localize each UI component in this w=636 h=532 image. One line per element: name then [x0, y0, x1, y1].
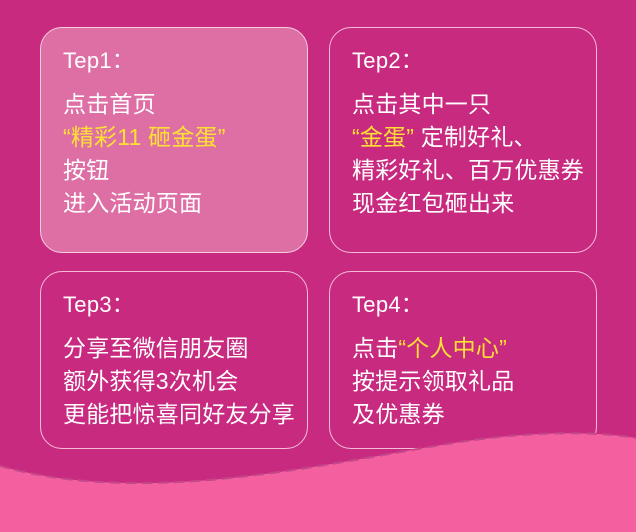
step-card-title: Tep1： [63, 46, 307, 76]
step-card-title: Tep3： [63, 290, 307, 320]
step-card-line: 按钮 [63, 154, 307, 187]
step-card-lines: 点击首页“精彩11 砸金蛋”按钮进入活动页面 [63, 88, 307, 220]
promo-steps-banner: Tep1：点击首页“精彩11 砸金蛋”按钮进入活动页面Tep2：点击其中一只“金… [0, 0, 636, 532]
step-card-title: Tep2： [352, 46, 596, 76]
step-card-3[interactable]: Tep3：分享至微信朋友圈额外获得3次机会更能把惊喜同好友分享 [40, 271, 308, 449]
plain-phrase: 进入活动页面 [63, 190, 202, 216]
step-card-line: 进入活动页面 [63, 187, 307, 220]
step-card-line: “金蛋” 定制好礼、 [352, 121, 596, 154]
step-card-lines: 点击其中一只“金蛋” 定制好礼、精彩好礼、百万优惠券现金红包砸出来 [352, 88, 596, 220]
plain-phrase: 点击其中一只 [352, 91, 491, 117]
plain-phrase: 按钮 [63, 157, 109, 183]
step-card-line: 及优惠券 [352, 398, 596, 431]
step-card-line: 点击其中一只 [352, 88, 596, 121]
plain-phrase: 现金红包砸出来 [352, 190, 514, 216]
step-card-line: 按提示领取礼品 [352, 365, 596, 398]
highlighted-phrase: “金蛋” [352, 124, 414, 150]
step-card-line: 点击首页 [63, 88, 307, 121]
step-card-4[interactable]: Tep4：点击“个人中心”按提示领取礼品及优惠券 [329, 271, 597, 449]
step-card-1[interactable]: Tep1：点击首页“精彩11 砸金蛋”按钮进入活动页面 [40, 27, 308, 253]
plain-phrase: 分享至微信朋友圈 [63, 335, 249, 361]
step-card-line: 现金红包砸出来 [352, 187, 596, 220]
step-card-lines: 点击“个人中心”按提示领取礼品及优惠券 [352, 332, 596, 431]
plain-phrase: 点击首页 [63, 91, 156, 117]
step-card-title: Tep4： [352, 290, 596, 320]
plain-phrase: 及优惠券 [352, 401, 445, 427]
highlighted-phrase: “精彩11 砸金蛋” [63, 124, 226, 150]
step-card-2[interactable]: Tep2：点击其中一只“金蛋” 定制好礼、精彩好礼、百万优惠券现金红包砸出来 [329, 27, 597, 253]
plain-phrase: 点击 [352, 335, 398, 361]
step-card-lines: 分享至微信朋友圈额外获得3次机会更能把惊喜同好友分享 [63, 332, 307, 431]
step-card-line: 额外获得3次机会 [63, 365, 307, 398]
step-card-line: “精彩11 砸金蛋” [63, 121, 307, 154]
highlighted-phrase: “个人中心” [398, 335, 507, 361]
plain-phrase: 更能把惊喜同好友分享 [63, 401, 295, 427]
step-card-line: 分享至微信朋友圈 [63, 332, 307, 365]
step-card-line: 精彩好礼、百万优惠券 [352, 154, 596, 187]
plain-phrase: 按提示领取礼品 [352, 368, 514, 394]
step-card-line: 更能把惊喜同好友分享 [63, 398, 307, 431]
plain-phrase: 精彩好礼、百万优惠券 [352, 157, 584, 183]
plain-phrase: 定制好礼、 [414, 124, 537, 150]
step-card-line: 点击“个人中心” [352, 332, 596, 365]
step-card-grid: Tep1：点击首页“精彩11 砸金蛋”按钮进入活动页面Tep2：点击其中一只“金… [40, 27, 597, 449]
plain-phrase: 额外获得3次机会 [63, 368, 238, 394]
